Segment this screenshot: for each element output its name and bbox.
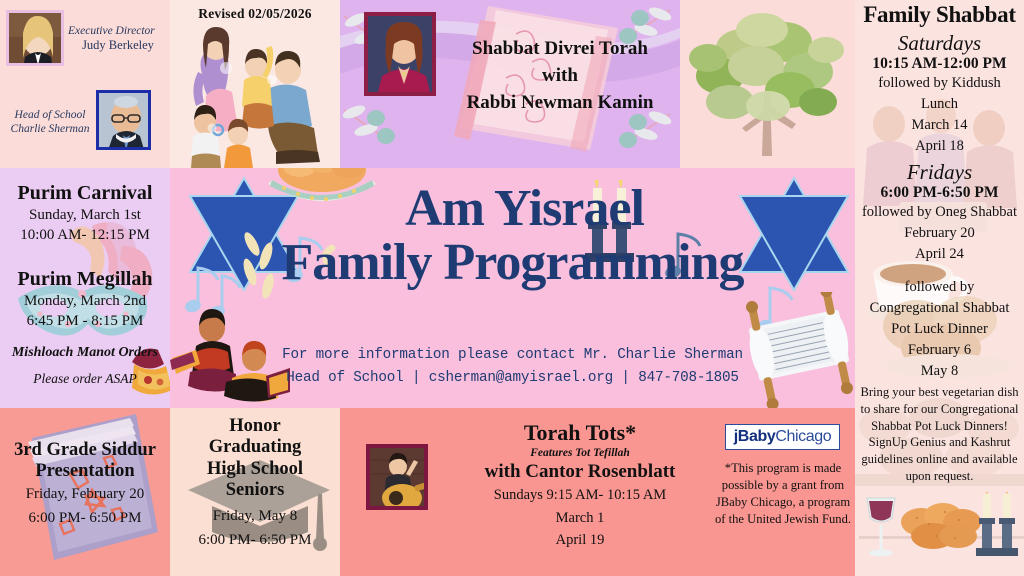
saturdays-label: Saturdays	[859, 31, 1020, 56]
jbaby-logo-light: Chicago	[775, 428, 831, 446]
siddur-time: 6:00 PM- 6:50 PM	[0, 508, 170, 528]
siddur-content: 3rd Grade Siddur Presentation Friday, Fe…	[0, 408, 170, 528]
cantor-photo	[366, 444, 428, 510]
siddur-presentation-panel: 3rd Grade Siddur Presentation Friday, Fe…	[0, 408, 170, 576]
executive-director-label: Executive Director Judy Berkeley	[68, 24, 168, 54]
torah-tots-with: with Cantor Rosenblatt	[450, 461, 710, 483]
family-shabbat-title: Family Shabbat	[859, 2, 1020, 28]
cantor-portrait-art	[370, 448, 428, 510]
head-of-school-name: Charlie Sherman	[4, 122, 96, 136]
torah-tots-date-1: March 1	[450, 508, 710, 529]
judy-portrait-art	[9, 13, 64, 66]
rabbi-photo	[364, 12, 436, 96]
torah-tots-subtitle: Features Tot Tefillah	[450, 447, 710, 459]
potluck-title-1: Congregational Shabbat	[859, 298, 1020, 319]
seniors-title-1: Honor	[170, 416, 340, 437]
executive-director-name: Judy Berkeley	[68, 38, 168, 54]
rabbi-portrait-art	[368, 16, 436, 96]
revised-date: Revised 02/05/2026	[170, 6, 340, 22]
divrei-line-2: with	[444, 63, 676, 90]
torah-tots-panel: Torah Tots* Features Tot Tefillah with C…	[340, 408, 855, 576]
fridays-date-2: April 24	[859, 244, 1020, 265]
head-of-school-title: Head of School	[4, 108, 96, 122]
family-clipart-panel: Revised 02/05/2026	[170, 0, 340, 168]
executive-director-photo	[6, 10, 64, 66]
purim-carnival-title: Purim Carnival	[0, 182, 170, 205]
shabbat-foreground-art	[859, 492, 1024, 576]
jbaby-chicago-logo: jBabyChicago	[725, 424, 840, 450]
mishloach-manot-note: Please order ASAP	[0, 371, 170, 387]
purim-megillah-time: 6:45 PM - 8:15 PM	[0, 311, 170, 331]
torah-tots-content: Torah Tots* Features Tot Tefillah with C…	[450, 420, 710, 551]
fridays-date-1: February 20	[859, 223, 1020, 244]
fridays-note: followed by Oneg Shabbat	[859, 202, 1020, 223]
torah-tots-date-2: April 19	[450, 530, 710, 551]
graduating-seniors-panel: Honor Graduating High School Seniors Fri…	[170, 408, 340, 576]
saturdays-time: 10:15 AM-12:00 PM	[859, 55, 1020, 73]
torah-tots-title: Torah Tots*	[450, 420, 710, 446]
seniors-content: Honor Graduating High School Seniors Fri…	[170, 408, 340, 550]
staff-panel: Executive Director Judy Berkeley Head of…	[0, 0, 170, 168]
poster-canvas: Executive Director Judy Berkeley Head of…	[0, 0, 1024, 576]
fridays-label: Fridays	[859, 160, 1020, 185]
seniors-date: Friday, May 8	[170, 506, 340, 526]
potluck-note: Bring your best vegetarian dish to share…	[859, 384, 1020, 434]
main-title-panel: Am Yisrael Family Programming For more i…	[170, 168, 855, 408]
seniors-time: 6:00 PM- 6:50 PM	[170, 530, 340, 550]
shabbat-content: Family Shabbat Saturdays 10:15 AM-12:00 …	[855, 2, 1024, 485]
potluck-title-2: Pot Luck Dinner	[859, 319, 1020, 340]
family-illustration	[172, 22, 340, 168]
tree-illustration	[686, 6, 848, 166]
potluck-date-1: February 6	[859, 340, 1020, 361]
divrei-torah-panel: Shabbat Divrei Torah with Rabbi Newman K…	[340, 0, 680, 168]
contact-info: For more information please contact Mr. …	[170, 344, 855, 389]
seniors-title-2: Graduating	[170, 437, 340, 458]
jbaby-grant-note: *This program is made possible by a gran…	[712, 460, 854, 528]
saturdays-date-1: March 14	[859, 115, 1020, 136]
purim-carnival-time: 10:00 AM- 12:15 PM	[0, 225, 170, 245]
charlie-portrait-art	[99, 93, 151, 150]
main-title-line-1: Am Yisrael	[170, 182, 855, 236]
tree-panel	[680, 0, 855, 168]
head-of-school-photo	[96, 90, 151, 150]
purim-panel: Purim Carnival Sunday, March 1st 10:00 A…	[0, 168, 170, 408]
head-of-school-label: Head of School Charlie Sherman	[4, 108, 96, 137]
main-title: Am Yisrael Family Programming	[170, 182, 855, 289]
shabbat-candlesticks-icon	[976, 492, 1018, 556]
wine-glass-icon	[867, 498, 895, 557]
jbaby-logo-bold: jBaby	[734, 428, 776, 446]
divrei-line-1: Shabbat Divrei Torah	[444, 36, 676, 63]
fridays-time: 6:00 PM-6:50 PM	[859, 184, 1020, 202]
purim-megillah-date: Monday, March 2nd	[0, 291, 170, 311]
divrei-line-3: Rabbi Newman Kamin	[444, 90, 676, 117]
siddur-title-1: 3rd Grade Siddur	[0, 440, 170, 461]
divrei-torah-heading: Shabbat Divrei Torah with Rabbi Newman K…	[444, 36, 676, 117]
potluck-follow: followed by	[859, 277, 1020, 298]
purim-carnival-date: Sunday, March 1st	[0, 205, 170, 225]
siddur-title-2: Presentation	[0, 461, 170, 482]
seniors-title-3: High School	[170, 459, 340, 480]
saturdays-note: followed by Kiddush Lunch	[859, 73, 1020, 115]
executive-director-title: Executive Director	[68, 24, 168, 38]
challah-icon	[901, 503, 981, 549]
family-shabbat-panel: Family Shabbat Saturdays 10:15 AM-12:00 …	[855, 0, 1024, 576]
main-title-line-2: Family Programming	[170, 236, 855, 290]
potluck-date-2: May 8	[859, 361, 1020, 382]
torah-tots-time: Sundays 9:15 AM- 10:15 AM	[450, 485, 710, 506]
contact-line-2: Head of School | csherman@amyisrael.org …	[170, 367, 855, 390]
seniors-title-4: Seniors	[170, 480, 340, 501]
contact-line-1: For more information please contact Mr. …	[170, 344, 855, 367]
mishloach-manot-title: Mishloach Manot Orders	[0, 345, 170, 361]
purim-megillah-title: Purim Megillah	[0, 268, 170, 291]
potluck-note-2: SignUp Genius and Kashrut guidelines onl…	[859, 434, 1020, 484]
siddur-date: Friday, February 20	[0, 484, 170, 504]
saturdays-date-2: April 18	[859, 136, 1020, 157]
